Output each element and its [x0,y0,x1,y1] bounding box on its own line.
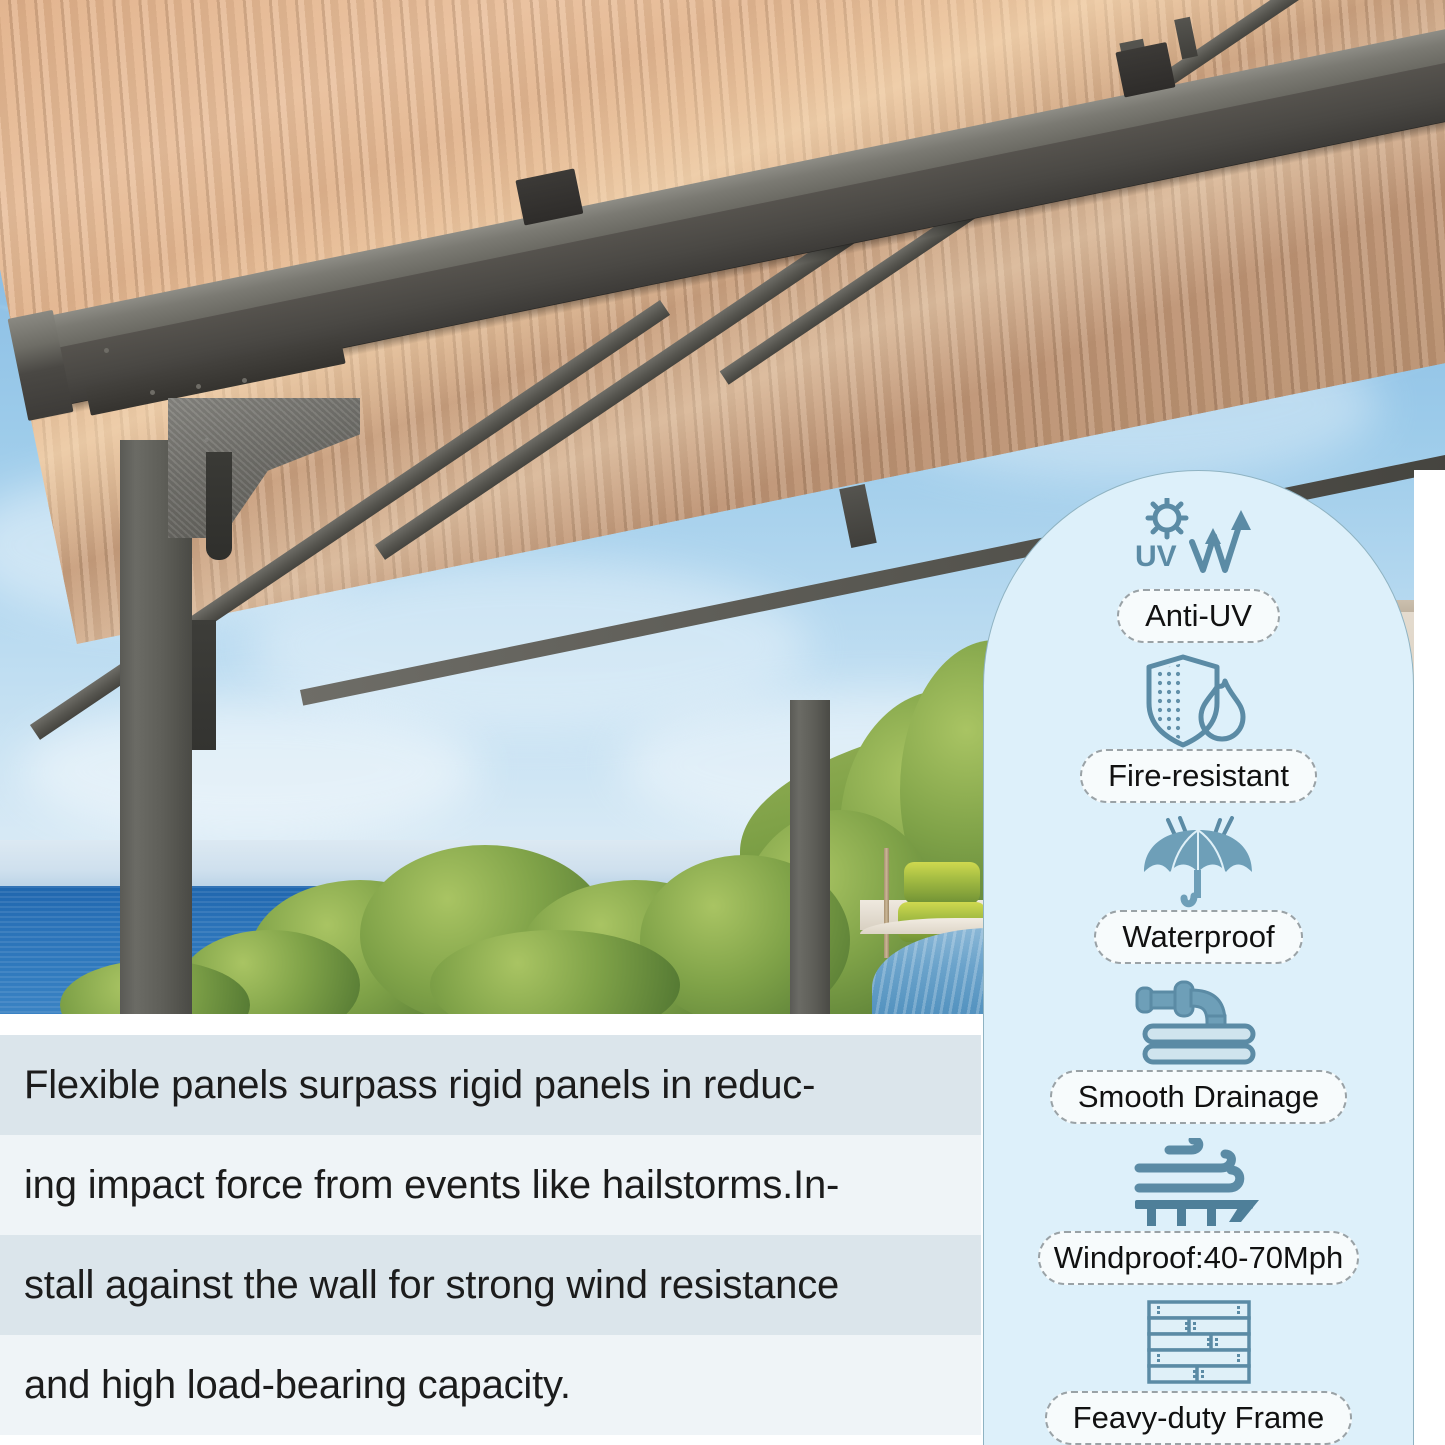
description-line: Flexible panels surpass rigid panels in … [0,1035,981,1135]
spacer [0,1014,981,1035]
bolt [242,378,247,383]
rafter-connector [839,484,877,548]
feature-label: Fire-resistant [1080,749,1317,803]
feature-waterproof: Waterproof [984,816,1413,964]
description-line: and high load-bearing capacity. [0,1335,981,1435]
bolt [150,390,155,395]
panel-right-margin [1414,470,1445,1445]
feature-label: Feavy-duty Frame [1045,1391,1353,1445]
smooth-drainage-hose-icon [1129,976,1269,1068]
bolt [196,384,201,389]
feature-highlights-panel: UV Anti-UV [983,470,1414,1445]
anti-uv-sun-rays-icon: UV [1129,495,1269,587]
fire-resistant-shield-flame-icon [1139,655,1259,747]
description-text-block: Flexible panels surpass rigid panels in … [0,1014,981,1445]
description-line: stall against the wall for strong wind r… [0,1235,981,1335]
product-marketing-image: Flexible panels surpass rigid panels in … [0,0,1445,1445]
feature-label: Anti-UV [1117,589,1280,643]
bracket-notch [206,452,232,560]
feature-label: Waterproof [1094,910,1302,964]
feature-label: Smooth Drainage [1050,1070,1347,1124]
bolt [104,348,109,353]
waterproof-umbrella-rain-icon [1134,816,1264,908]
support-post-right [790,700,830,1014]
feature-smooth-drainage: Smooth Drainage [984,976,1413,1124]
feature-windproof: Windproof:40-70Mph [984,1137,1413,1285]
windproof-wind-barrier-icon [1125,1137,1273,1229]
feature-heavy-duty-frame: Feavy-duty Frame [984,1297,1413,1445]
description-line: ing impact force from events like hailst… [0,1135,981,1235]
feature-label: Windproof:40-70Mph [1038,1231,1360,1285]
post-notch [192,620,216,750]
feature-fire-resistant: Fire-resistant [984,655,1413,803]
svg-text:UV: UV [1135,540,1177,573]
heavy-duty-frame-icon [1145,1297,1253,1389]
